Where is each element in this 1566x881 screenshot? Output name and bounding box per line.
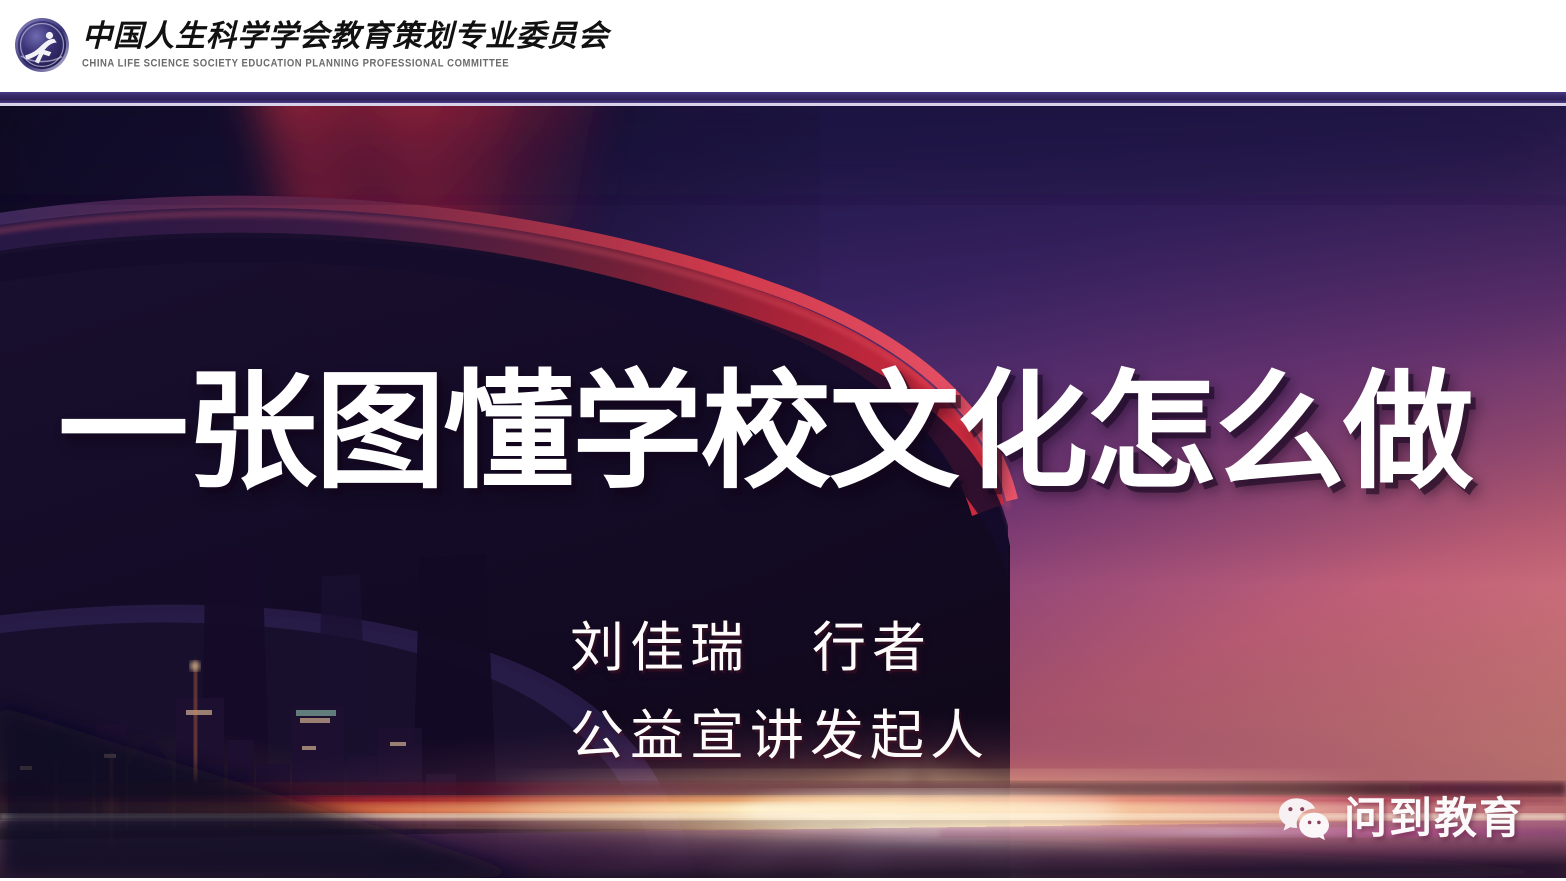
wechat-label: 问到教育 xyxy=(1344,796,1524,842)
presenter-name-line: 刘佳瑞行者 xyxy=(570,604,1270,692)
organization-name-en: CHINA LIFE SCIENCE SOCIETY EDUCATION PLA… xyxy=(82,56,609,71)
organization-brand: 中国人生科学学会教育策划专业委员会 CHINA LIFE SCIENCE SOC… xyxy=(0,15,609,75)
header-divider-bar xyxy=(0,92,1566,103)
wechat-icon xyxy=(1278,797,1330,841)
presenter-alias: 行者 xyxy=(812,616,932,679)
organization-text: 中国人生科学学会教育策划专业委员会 CHINA LIFE SCIENCE SOC… xyxy=(82,20,609,70)
slide-header: 中国人生科学学会教育策划专业委员会 CHINA LIFE SCIENCE SOC… xyxy=(0,0,1566,90)
presenter-role: 公益宣讲发起人 xyxy=(570,692,1270,780)
presenter-name: 刘佳瑞 xyxy=(570,616,750,679)
header-divider xyxy=(0,92,1566,106)
hero-banner: 一张图懂学校文化怎么做 刘佳瑞行者 公益宣讲发起人 xyxy=(0,106,1566,878)
wechat-watermark: 问到教育 xyxy=(1278,796,1524,842)
presenter-block: 刘佳瑞行者 公益宣讲发起人 xyxy=(570,604,1270,780)
running-figure-emblem-icon xyxy=(12,15,72,75)
organization-name-cn: 中国人生科学学会教育策划专业委员会 xyxy=(82,20,609,54)
hero-title: 一张图懂学校文化怎么做 xyxy=(58,368,1547,498)
slide-root: 中国人生科学学会教育策划专业委员会 CHINA LIFE SCIENCE SOC… xyxy=(0,0,1566,881)
